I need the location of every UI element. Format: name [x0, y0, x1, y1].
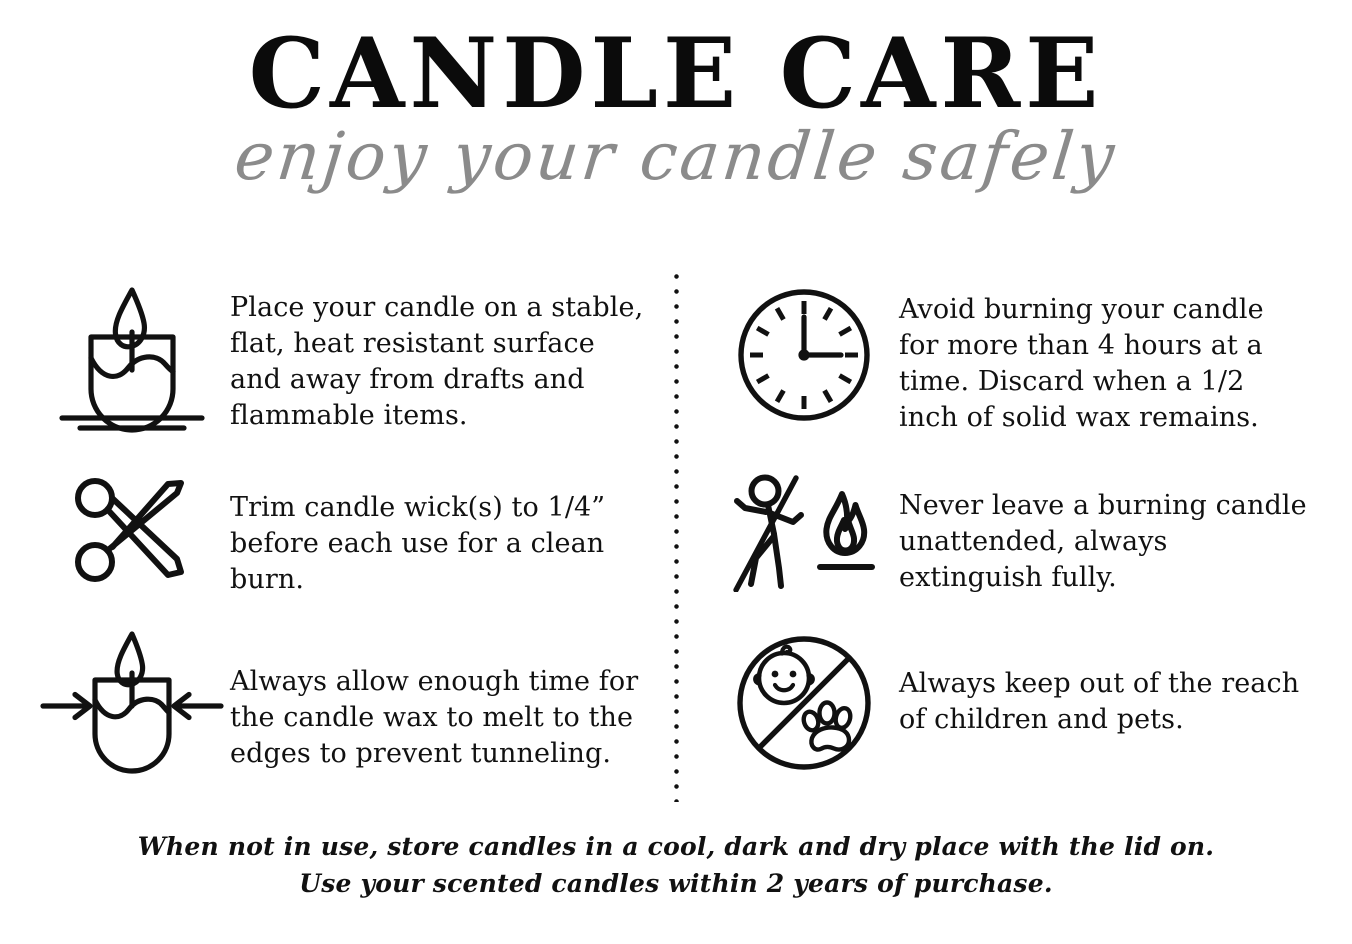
candle-on-surface-icon — [34, 272, 230, 436]
tip-item: Always allow enough time for the candle … — [34, 628, 677, 804]
page-title: CANDLE CARE — [0, 0, 1352, 122]
footer-line-2: Use your scented candles within 2 years … — [0, 865, 1352, 902]
candle-care-infographic: CANDLE CARE enjoy your candle safely — [0, 0, 1352, 944]
footer: When not in use, store candles in a cool… — [0, 828, 1352, 902]
no-children-pets-icon — [709, 628, 899, 778]
candle-melt-to-edges-icon — [34, 628, 230, 778]
tip-item: Avoid burning your candle for more than … — [709, 272, 1352, 468]
clock-icon — [709, 272, 899, 430]
tip-item: Never leave a burning candle unattended,… — [709, 468, 1352, 628]
tip-text: Always keep out of the reach of children… — [899, 628, 1309, 738]
tips-column-left: Place your candle on a stable, flat, hea… — [0, 272, 677, 804]
tip-text: Never leave a burning candle unattended,… — [899, 468, 1309, 596]
page-subtitle: enjoy your candle safely — [0, 122, 1352, 190]
tip-text: Always allow enough time for the candle … — [230, 628, 650, 772]
header: CANDLE CARE enjoy your candle safely — [0, 0, 1352, 190]
tip-text: Avoid burning your candle for more than … — [899, 272, 1309, 436]
scissors-icon — [34, 468, 230, 590]
tips-column-right: Avoid burning your candle for more than … — [677, 272, 1352, 804]
footer-line-1: When not in use, store candles in a cool… — [0, 828, 1352, 865]
tip-text: Place your candle on a stable, flat, hea… — [230, 272, 650, 434]
tips-container: Place your candle on a stable, flat, hea… — [0, 272, 1352, 804]
tip-text: Trim candle wick(s) to 1/4” before each … — [230, 468, 650, 598]
tip-item: Always keep out of the reach of children… — [709, 628, 1352, 804]
tip-item: Trim candle wick(s) to 1/4” before each … — [34, 468, 677, 628]
person-leaving-fire-icon — [709, 468, 899, 592]
tip-item: Place your candle on a stable, flat, hea… — [34, 272, 677, 468]
